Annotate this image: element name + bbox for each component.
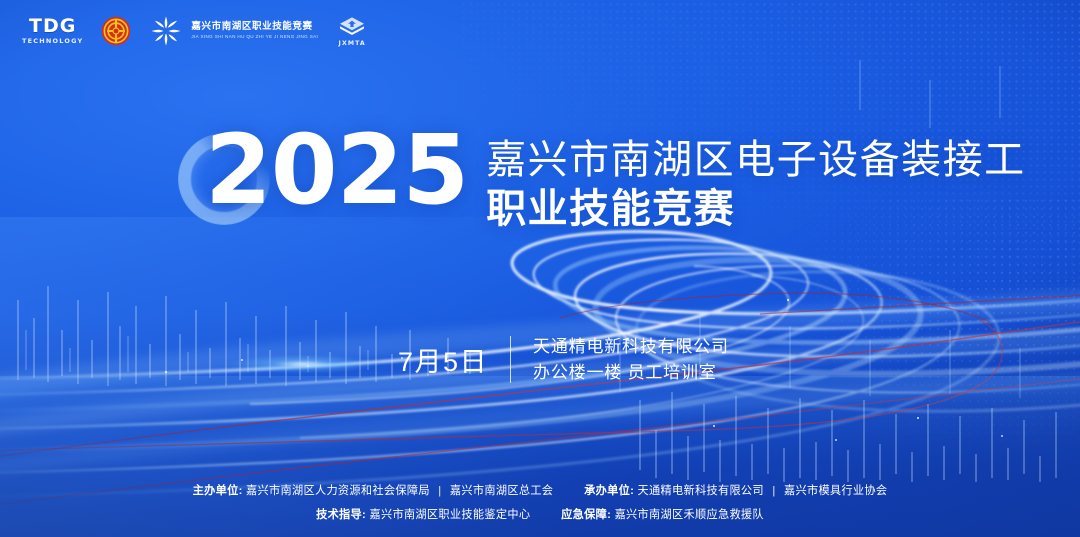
- host-label: 承办单位:: [584, 485, 634, 497]
- host-separator: |: [767, 485, 780, 497]
- event-venue-line1: 天通精电新科技有限公司: [533, 334, 729, 360]
- emergency-support-group: 应急保障: 嘉兴市南湖区禾顺应急救援队: [561, 509, 764, 521]
- acftu-emblem-logo: [101, 16, 131, 46]
- organizer-value-2: 嘉兴市南湖区总工会: [450, 485, 553, 497]
- footer-line-2: 技术指导: 嘉兴市南湖区职业技能鉴定中心 应急保障: 嘉兴市南湖区禾顺应急救援队: [0, 510, 1080, 521]
- hero-year: 2025: [205, 124, 468, 217]
- background-vignette: [0, 0, 1080, 537]
- organizer-label: 主办单位:: [193, 485, 243, 497]
- organizer-separator: |: [433, 485, 446, 497]
- sponsor-logo-strip: TDG TECHNOLOGY: [22, 10, 368, 52]
- poster-canvas: TDG TECHNOLOGY: [0, 0, 1080, 537]
- hero-title-block: 2025 嘉兴市南湖区电子设备装接工 职业技能竞赛: [0, 128, 1080, 234]
- hero-title-line2: 职业技能竞赛: [486, 185, 1026, 234]
- event-date: 7月5日: [398, 340, 488, 379]
- organizer-value-1: 嘉兴市南湖区人力资源和社会保障局: [246, 485, 430, 497]
- jiaxing-competition-logo: 嘉兴市南湖区职业技能竞赛 JIA XING SHI NAN HU QU ZHI …: [149, 14, 318, 48]
- event-venue-line2: 办公楼一楼 员工培训室: [533, 360, 729, 386]
- jiaxing-competition-mark-icon: [149, 14, 183, 48]
- jiaxing-competition-text: 嘉兴市南湖区职业技能竞赛 JIA XING SHI NAN HU QU ZHI …: [191, 22, 318, 39]
- tdg-logo-main: TDG: [29, 17, 76, 36]
- footer-line-1: 主办单位: 嘉兴市南湖区人力资源和社会保障局 | 嘉兴市南湖区总工会 承办单位:…: [0, 486, 1080, 497]
- footer-credits: 主办单位: 嘉兴市南湖区人力资源和社会保障局 | 嘉兴市南湖区总工会 承办单位:…: [0, 486, 1080, 521]
- event-meta: 7月5日 天通精电新科技有限公司 办公楼一楼 员工培训室: [0, 334, 1080, 385]
- organizer-group: 主办单位: 嘉兴市南湖区人力资源和社会保障局 | 嘉兴市南湖区总工会: [193, 485, 557, 497]
- jxmta-logo: JXMTA: [336, 15, 368, 47]
- event-venue: 天通精电新科技有限公司 办公楼一楼 员工培训室: [533, 334, 729, 385]
- jiaxing-competition-cn: 嘉兴市南湖区职业技能竞赛: [191, 22, 318, 32]
- emergency-support-label: 应急保障:: [561, 509, 611, 521]
- host-value-1: 天通精电新科技有限公司: [638, 485, 764, 497]
- jiaxing-competition-pinyin: JIA XING SHI NAN HU QU ZHI YE JI NENG JI…: [191, 35, 318, 40]
- jxmta-logo-text: JXMTA: [339, 40, 366, 47]
- emergency-support-value: 嘉兴市南湖区禾顺应急救援队: [615, 509, 764, 521]
- tdg-logo-sub: TECHNOLOGY: [22, 38, 83, 45]
- meta-divider: [510, 336, 511, 383]
- host-group: 承办单位: 天通精电新科技有限公司 | 嘉兴市模具行业协会: [584, 485, 887, 497]
- tech-guidance-group: 技术指导: 嘉兴市南湖区职业技能鉴定中心: [316, 509, 534, 521]
- host-value-2: 嘉兴市模具行业协会: [784, 485, 887, 497]
- hero-title-line1: 嘉兴市南湖区电子设备装接工: [486, 136, 1026, 185]
- jxmta-mark-icon: [336, 15, 368, 39]
- hero-title-text: 嘉兴市南湖区电子设备装接工 职业技能竞赛: [486, 128, 1026, 234]
- tdg-logo: TDG TECHNOLOGY: [22, 17, 83, 45]
- tech-guidance-value: 嘉兴市南湖区职业技能鉴定中心: [369, 509, 530, 521]
- tech-guidance-label: 技术指导:: [316, 509, 366, 521]
